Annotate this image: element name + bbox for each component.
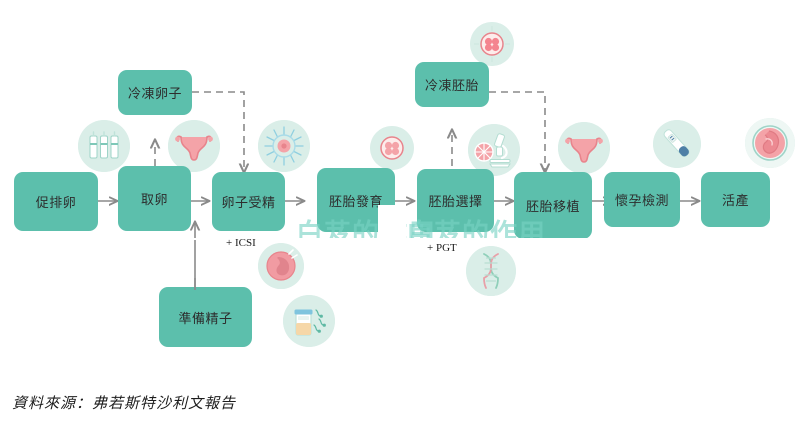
connector-layer-overlay bbox=[0, 0, 807, 426]
diagram-canvas: 冷凍卵子 冷凍胚胎 準備精子 促排卵 取卵 卵子受精 胚胎發育 胚胎選擇 胚胎移… bbox=[0, 0, 807, 426]
